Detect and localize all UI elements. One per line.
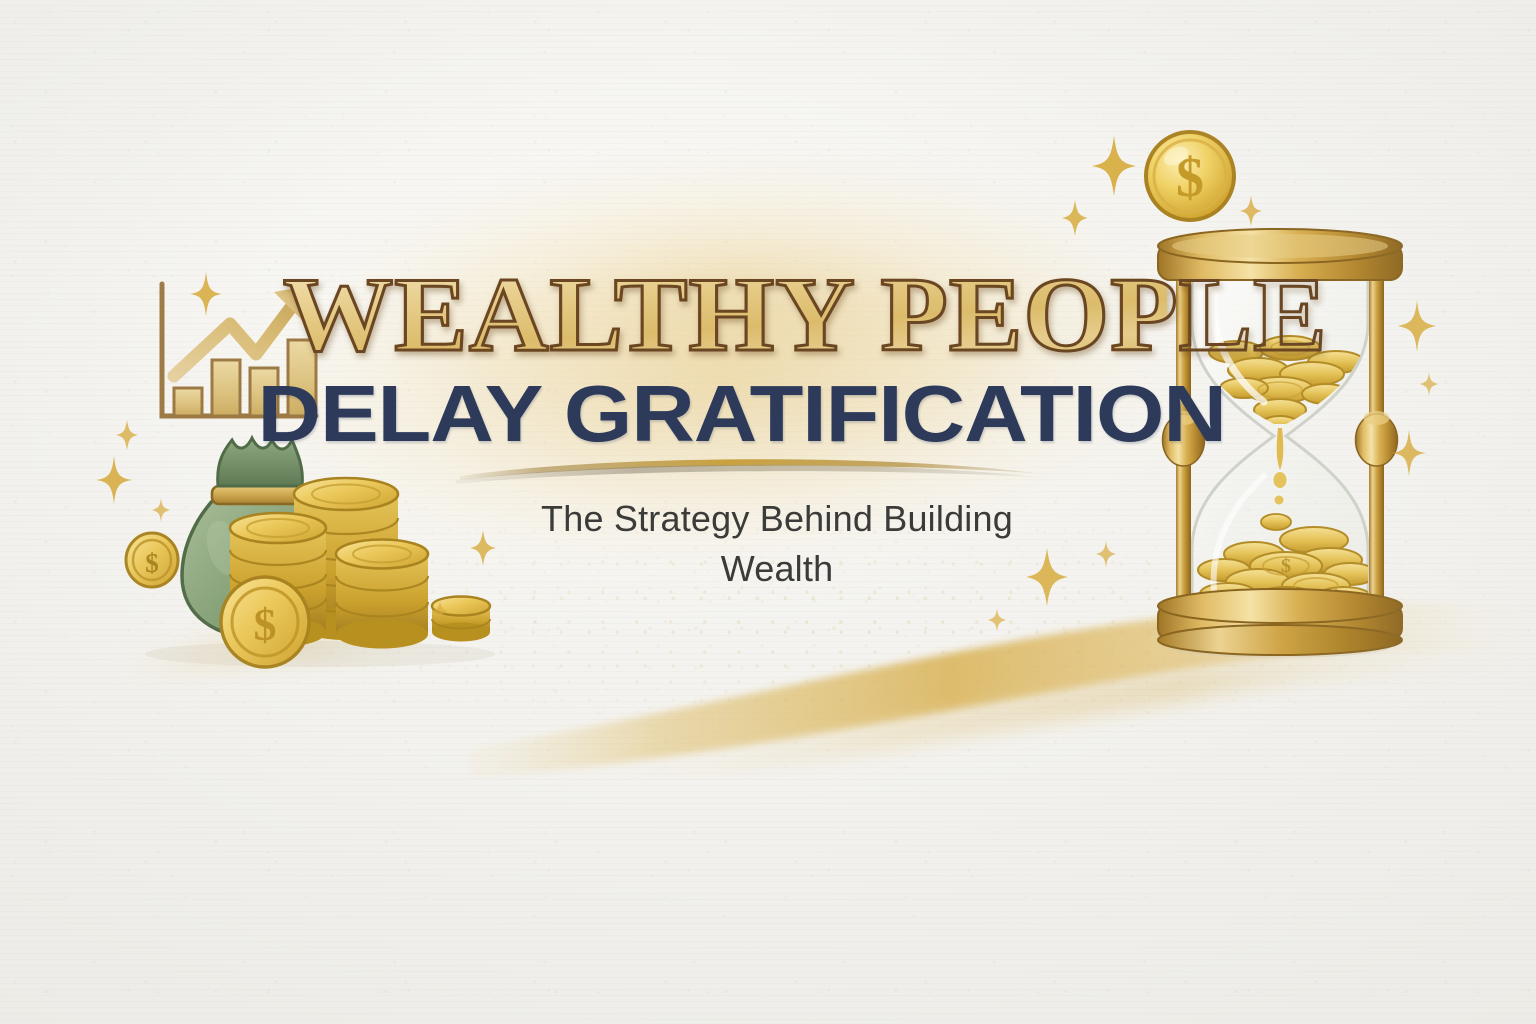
background-vignette	[0, 0, 1536, 1024]
banner-canvas: $ $	[0, 0, 1536, 1024]
